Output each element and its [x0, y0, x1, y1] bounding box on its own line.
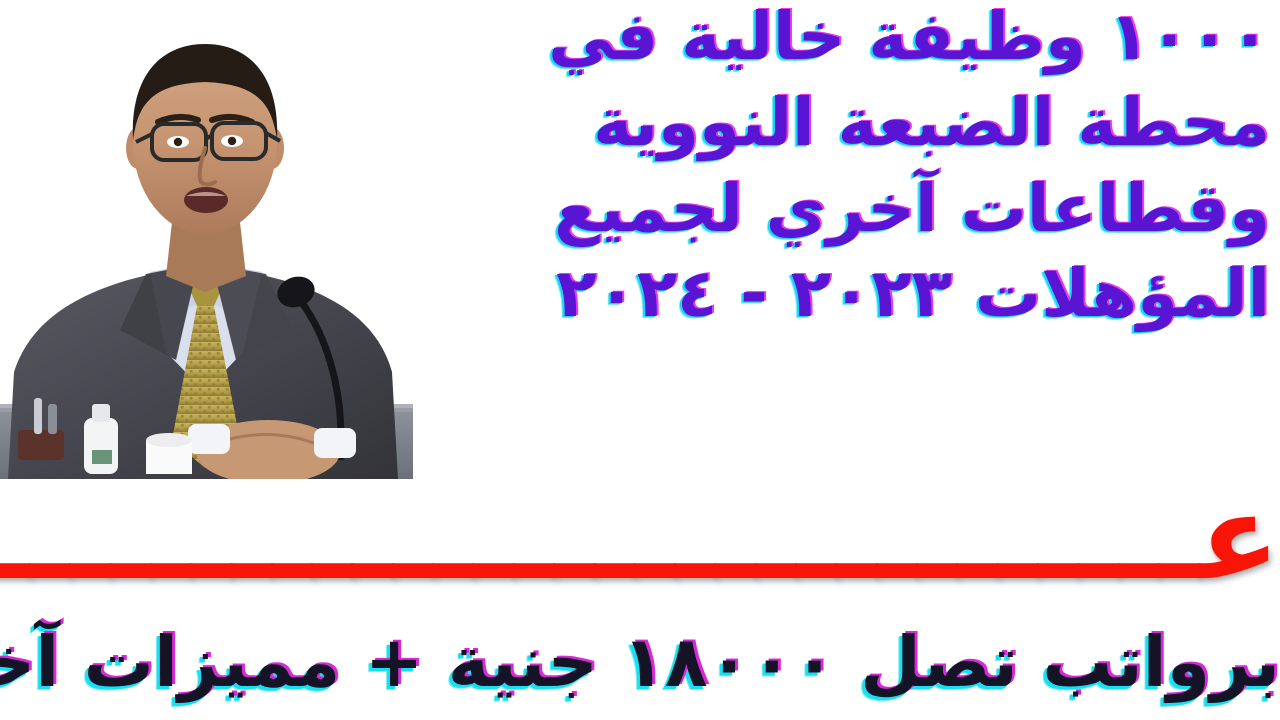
- bottle-label: [92, 450, 112, 464]
- portrait-illustration: [0, 0, 413, 479]
- official-portrait-photo: [0, 0, 413, 479]
- headline-line-3: وقطاعات آخري لجميع: [450, 166, 1270, 252]
- poster-canvas: ١٠٠٠ وظيفة خالية في محطة الضبعة النووية …: [0, 0, 1280, 720]
- urgent-banner: عـــــــــــــــــــــــــــــــــــــــ…: [0, 478, 1280, 602]
- pupil-right: [228, 137, 236, 145]
- headline-line-1: ١٠٠٠ وظيفة خالية في: [450, 0, 1270, 80]
- cup-rim: [146, 433, 192, 447]
- bottle-cap: [92, 404, 110, 422]
- pen-b: [48, 404, 57, 434]
- shirt-cuff-left: [188, 424, 230, 454]
- salary-banner: برواتب تصل ١٨٠٠٠ جنية + مميزات آخري: [0, 614, 1280, 720]
- water-bottle: [84, 418, 118, 474]
- urgent-label: عـــــــــــــــــــــــــــــــــــــــ…: [0, 478, 1280, 596]
- headline-line-4: المؤهلات ٢٠٢٣ - ٢٠٢٤: [450, 251, 1270, 337]
- mouth-open: [184, 187, 228, 213]
- salary-label: برواتب تصل ١٨٠٠٠ جنية + مميزات آخري: [0, 614, 1280, 710]
- pen-a: [34, 398, 42, 434]
- pupil-left: [174, 138, 182, 146]
- shirt-cuff-right: [314, 428, 356, 458]
- headline-block: ١٠٠٠ وظيفة خالية في محطة الضبعة النووية …: [450, 0, 1270, 337]
- pen-holder: [18, 430, 64, 460]
- headline-line-2: محطة الضبعة النووية: [450, 80, 1270, 166]
